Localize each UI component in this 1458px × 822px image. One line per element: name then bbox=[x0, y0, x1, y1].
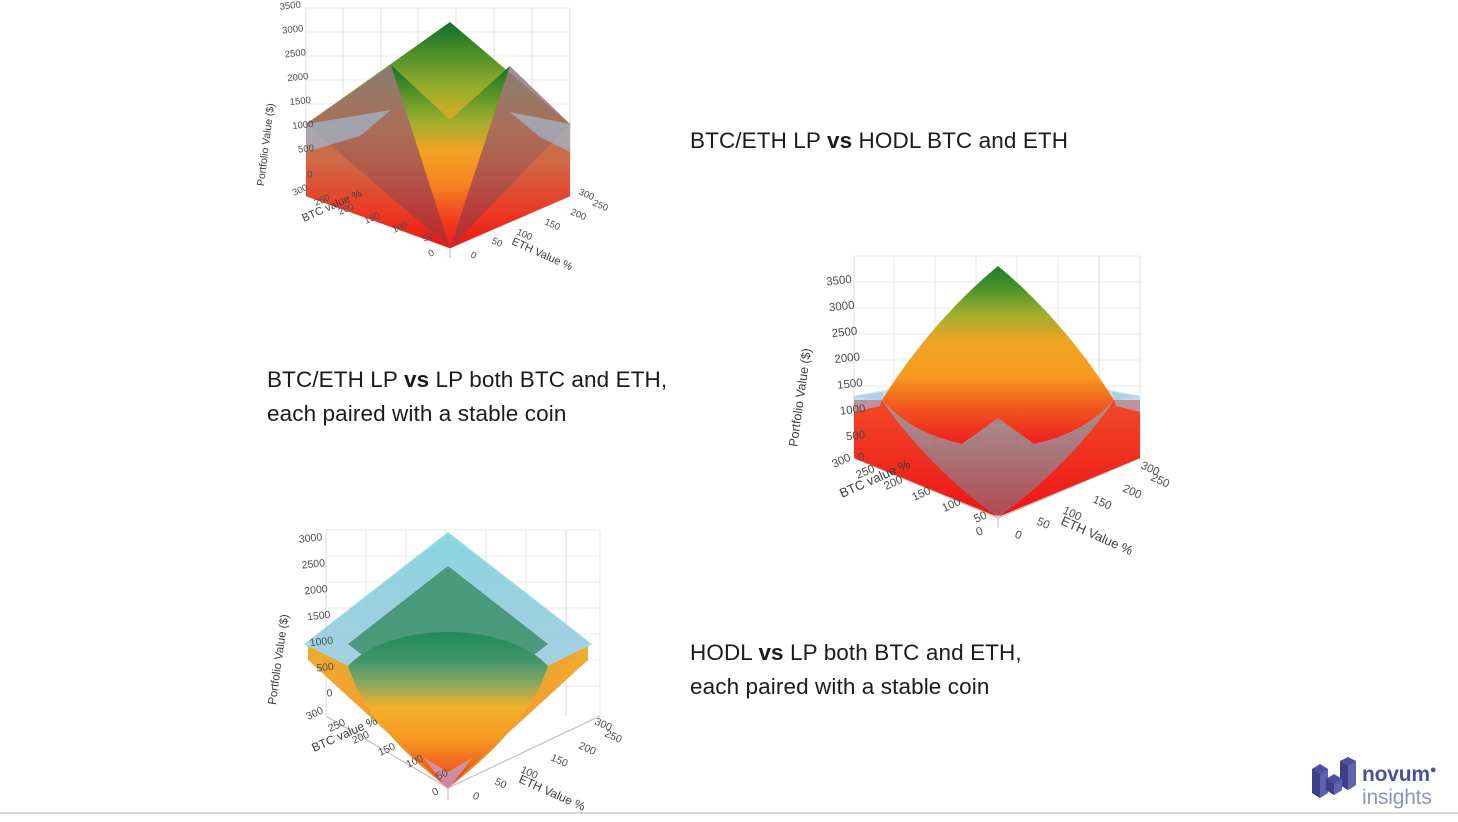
svg-text:2000: 2000 bbox=[834, 351, 861, 366]
svg-text:200: 200 bbox=[569, 207, 588, 223]
brand-dot: ● bbox=[1430, 764, 1436, 776]
svg-text:3500: 3500 bbox=[826, 274, 853, 289]
caption-lp-vs-hodl: BTC/ETH LP vs HODL BTC and ETH bbox=[690, 124, 1068, 158]
svg-text:200: 200 bbox=[1121, 483, 1143, 502]
svg-text:200: 200 bbox=[577, 740, 598, 758]
svg-text:250: 250 bbox=[591, 198, 610, 214]
svg-text:2000: 2000 bbox=[287, 71, 309, 84]
chart-lp-vs-hodl: 3500 3000 2500 2000 1500 1000 500 0 Port… bbox=[248, 0, 620, 290]
chart-3-svg: 3000 2500 2000 1500 1000 500 0 Portfolio… bbox=[248, 520, 640, 820]
svg-text:0: 0 bbox=[471, 790, 481, 803]
svg-text:0: 0 bbox=[430, 785, 440, 798]
caption-3-prefix: HODL bbox=[690, 640, 758, 665]
svg-text:300: 300 bbox=[304, 705, 325, 723]
z-axis-title: Portfolio Value ($) bbox=[786, 347, 814, 447]
svg-text:500: 500 bbox=[845, 429, 865, 443]
svg-text:50: 50 bbox=[1035, 516, 1052, 532]
svg-text:50: 50 bbox=[490, 236, 504, 250]
surface-lp-stable-main bbox=[882, 266, 1114, 444]
svg-text:1000: 1000 bbox=[292, 119, 314, 132]
svg-text:150: 150 bbox=[549, 752, 570, 770]
svg-text:50: 50 bbox=[493, 776, 509, 792]
y-axis-title: ETH Value % bbox=[517, 772, 588, 814]
svg-text:300: 300 bbox=[830, 452, 852, 471]
svg-text:0: 0 bbox=[326, 687, 333, 700]
svg-text:0: 0 bbox=[427, 248, 436, 260]
y-axis-title: ETH Value % bbox=[510, 236, 575, 274]
z-axis-title: Portfolio Value ($) bbox=[267, 613, 292, 705]
surface-lp-dome bbox=[348, 632, 548, 788]
svg-text:0: 0 bbox=[857, 451, 865, 464]
caption-hodl-vs-lp-stable: HODL vs LP both BTC and ETH, each paired… bbox=[690, 636, 1022, 704]
svg-text:1500: 1500 bbox=[289, 95, 311, 108]
svg-text:1500: 1500 bbox=[307, 609, 332, 623]
caption-1-prefix: BTC/ETH LP bbox=[690, 128, 827, 153]
y-axis-title: ETH Value % bbox=[1059, 513, 1136, 558]
svg-text:1500: 1500 bbox=[837, 377, 864, 392]
svg-text:500: 500 bbox=[316, 661, 335, 675]
brand-logo: novum● insights bbox=[1310, 757, 1450, 805]
brand-name: novum● bbox=[1362, 759, 1436, 786]
z-axis-title: Portfolio Value ($) bbox=[255, 103, 277, 187]
svg-text:2500: 2500 bbox=[301, 557, 326, 571]
svg-text:0: 0 bbox=[1013, 529, 1024, 543]
brand-tagline: insights bbox=[1362, 786, 1436, 809]
svg-text:0: 0 bbox=[974, 525, 985, 539]
chart-lp-vs-lp-stable: 3500 3000 2500 2000 1500 1000 500 0 Port… bbox=[762, 248, 1192, 560]
svg-text:3000: 3000 bbox=[282, 23, 304, 36]
caption-1-emphasis: vs bbox=[827, 128, 852, 153]
chart-1-svg: 3500 3000 2500 2000 1500 1000 500 0 Port… bbox=[248, 0, 620, 290]
svg-text:2500: 2500 bbox=[284, 47, 306, 60]
svg-text:150: 150 bbox=[543, 217, 562, 233]
caption-lp-vs-lp-stable: BTC/ETH LP vs LP both BTC and ETH, each … bbox=[267, 363, 667, 431]
svg-text:3500: 3500 bbox=[279, 0, 301, 13]
svg-text:3000: 3000 bbox=[298, 531, 323, 545]
svg-text:0: 0 bbox=[469, 250, 478, 262]
x-axis-title: BTC value % bbox=[310, 713, 380, 754]
chart-hodl-vs-lp-stable: 3000 2500 2000 1500 1000 500 0 Portfolio… bbox=[248, 520, 640, 820]
svg-text:3000: 3000 bbox=[828, 300, 855, 315]
caption-1-suffix: HODL BTC and ETH bbox=[852, 128, 1068, 153]
svg-text:2000: 2000 bbox=[304, 583, 329, 597]
caption-2-emphasis: vs bbox=[404, 367, 429, 392]
svg-text:500: 500 bbox=[298, 143, 315, 156]
novum-cube-icon bbox=[1310, 757, 1358, 801]
brand-wordmark: novum● insights bbox=[1362, 759, 1436, 809]
brand-name-text: novum bbox=[1362, 763, 1430, 786]
slide-canvas: 3500 3000 2500 2000 1500 1000 500 0 Port… bbox=[0, 0, 1458, 822]
chart-2-svg: 3500 3000 2500 2000 1500 1000 500 0 Port… bbox=[762, 248, 1192, 560]
svg-text:1000: 1000 bbox=[309, 635, 334, 649]
caption-3-emphasis: vs bbox=[758, 640, 783, 665]
slide-bottom-rule bbox=[0, 812, 1458, 814]
svg-text:150: 150 bbox=[1091, 494, 1113, 513]
caption-2-prefix: BTC/ETH LP bbox=[267, 367, 404, 392]
z-axis-ticks: 3500 3000 2500 2000 1500 1000 500 0 bbox=[826, 274, 871, 466]
